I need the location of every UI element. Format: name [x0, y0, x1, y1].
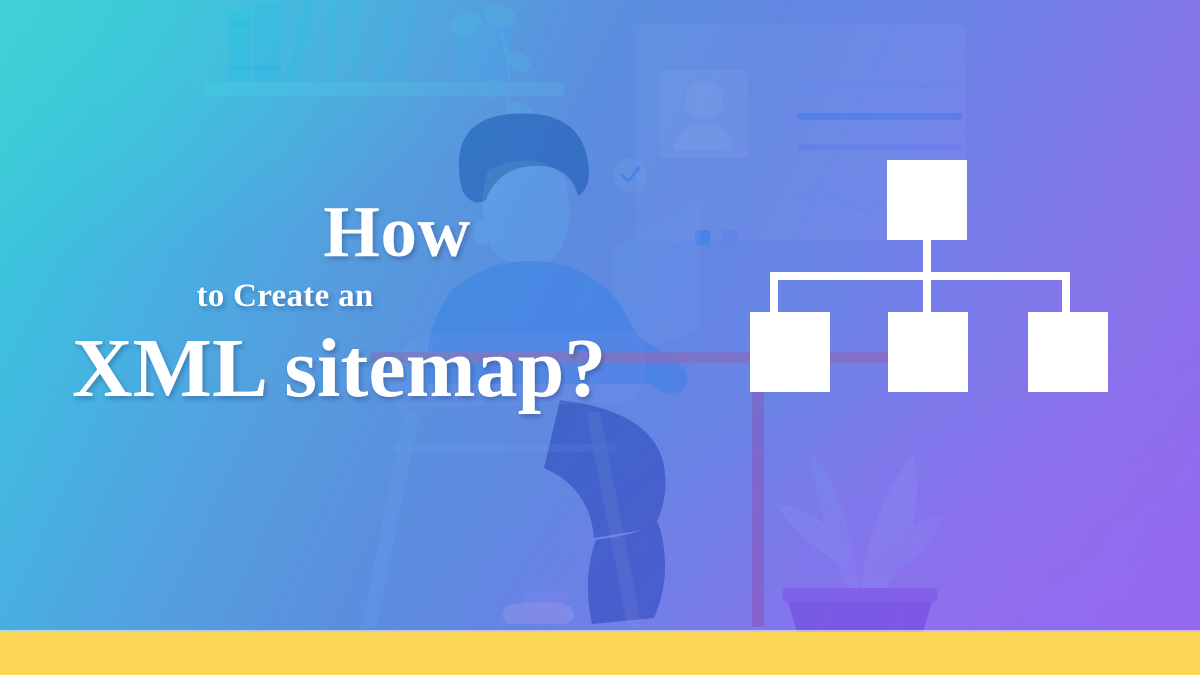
root-page-node[interactable]: [887, 160, 967, 240]
headline-line-1: How: [72, 196, 692, 268]
person-hair-overlay: [459, 113, 589, 202]
pot-rim-overlay: [782, 588, 938, 602]
headline-line-3: XML sitemap?: [72, 327, 692, 411]
child-page-node-1[interactable]: [750, 312, 830, 392]
child-2-vertical-connector: [923, 272, 931, 314]
headline-line-2: to Create an: [72, 280, 692, 313]
person-legs-lower-overlay: [588, 522, 665, 624]
yellow-accent-bar: [0, 632, 1200, 675]
horizontal-bus-connector: [770, 272, 1070, 280]
sitemap-diagram: [740, 152, 1130, 400]
child-1-vertical-connector: [770, 272, 778, 314]
child-3-vertical-connector: [1062, 272, 1070, 314]
headline-block: How to Create an XML sitemap?: [72, 196, 692, 411]
banner-canvas: How to Create an XML sitemap?: [0, 0, 1200, 675]
person-legs-overlay: [544, 400, 666, 538]
child-page-node-3[interactable]: [1028, 312, 1108, 392]
child-page-node-2[interactable]: [888, 312, 968, 392]
